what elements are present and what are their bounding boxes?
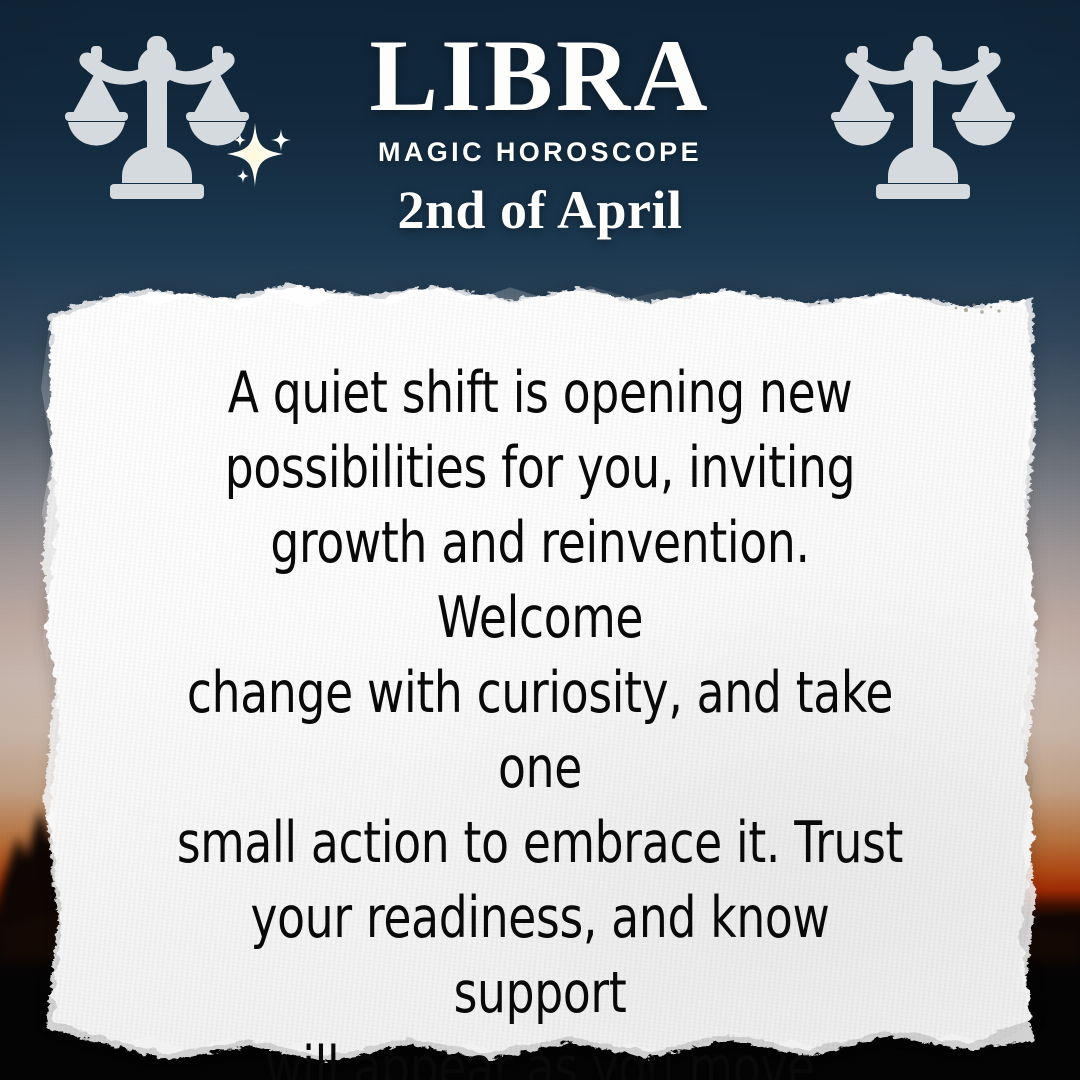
title-block: LIBRA [230, 26, 850, 241]
horoscope-line: A quiet shift is opening new [174, 356, 907, 431]
brand-name: MAGIC HOROSCOPE [230, 135, 850, 169]
horoscope-line: small action to embrace it. Trust [174, 806, 907, 881]
card-header: LIBRA [0, 0, 1080, 275]
torn-paper-sheet: A quiet shift is opening new possibiliti… [38, 278, 1042, 1063]
horoscope-date: 2nd of April [230, 179, 850, 241]
libra-scales-icon [828, 28, 1018, 203]
horoscope-line: will appear as you move forward. [174, 1031, 907, 1080]
horoscope-card: LIBRA [0, 0, 1080, 1080]
zodiac-sign-title: LIBRA [230, 26, 850, 127]
horoscope-line: growth and reinvention. Welcome [174, 506, 907, 656]
brand-row: MAGIC HOROSCOPE [230, 135, 850, 169]
horoscope-line: possibilities for you, inviting [174, 431, 907, 506]
sparkle-star-icon [224, 117, 310, 195]
horoscope-line: your readiness, and know support [174, 881, 907, 1031]
horoscope-line: change with curiosity, and take one [174, 656, 907, 806]
horoscope-text: A quiet shift is opening new possibiliti… [174, 356, 907, 1080]
